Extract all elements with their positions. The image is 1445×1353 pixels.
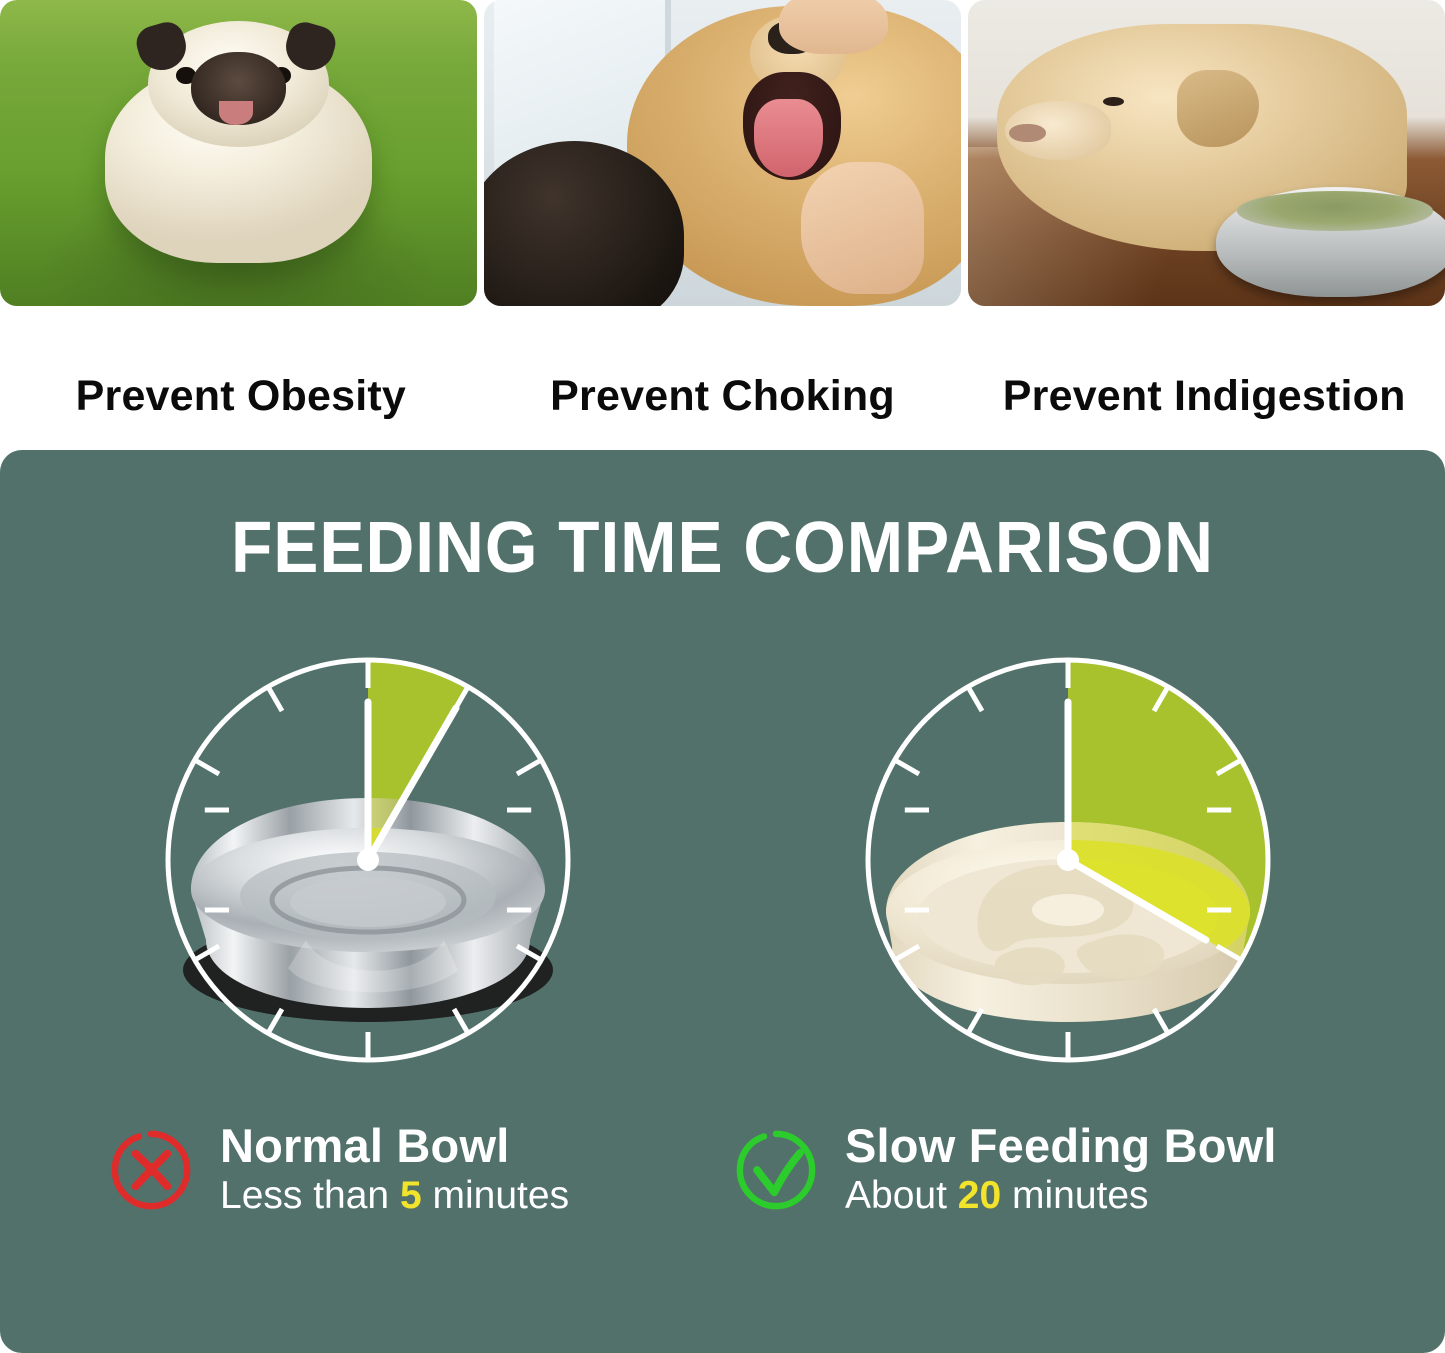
result-subtitle: Less than 5 minutes — [220, 1173, 569, 1219]
hand-upper-shape — [779, 0, 888, 54]
panel-title: FEEDING TIME COMPARISON — [43, 507, 1401, 589]
benefit-photo-prevent-obesity — [0, 0, 477, 306]
result-sub-value: 5 — [400, 1174, 422, 1217]
feeding-time-comparison-panel: FEEDING TIME COMPARISON — [0, 450, 1445, 1353]
labrador-eye-shape — [1103, 97, 1124, 106]
clock-center-dot — [357, 849, 379, 871]
benefits-photo-strip — [0, 0, 1445, 306]
result-title: Slow Feeding Bowl — [845, 1122, 1277, 1171]
result-normal-bowl-text: Normal Bowl Less than 5 minutes — [220, 1122, 569, 1219]
result-normal-bowl: Normal Bowl Less than 5 minutes — [108, 1122, 569, 1219]
slow-feeding-bowl-clock — [858, 640, 1278, 1070]
labrador-nose-shape — [1009, 124, 1046, 142]
benefit-caption-prevent-obesity: Prevent Obesity — [0, 306, 482, 436]
benefit-photo-prevent-indigestion — [968, 0, 1445, 306]
result-sub-value: 20 — [958, 1174, 1001, 1217]
clock-comparison-row — [0, 640, 1445, 1080]
result-slow-feeding-bowl-text: Slow Feeding Bowl About 20 minutes — [845, 1122, 1277, 1219]
normal-bowl-clock — [158, 640, 578, 1070]
result-subtitle: About 20 minutes — [845, 1173, 1277, 1219]
x-circle-icon — [108, 1127, 194, 1213]
comparison-results-row: Normal Bowl Less than 5 minutes Slow Fee… — [0, 1122, 1445, 1272]
labrador-ear-shape — [1177, 70, 1259, 147]
benefit-caption-prevent-indigestion: Prevent Indigestion — [963, 306, 1445, 436]
dog-tongue-shape — [754, 99, 823, 177]
clock-center-dot — [1057, 849, 1079, 871]
result-sub-prefix: About — [845, 1174, 958, 1217]
result-title: Normal Bowl — [220, 1122, 569, 1171]
result-sub-suffix: minutes — [1001, 1174, 1148, 1217]
benefit-caption-prevent-choking: Prevent Choking — [482, 306, 964, 436]
check-circle-icon — [733, 1127, 819, 1213]
hand-lower-shape — [801, 162, 924, 294]
result-sub-suffix: minutes — [422, 1174, 569, 1217]
steel-bowl-shape — [1216, 187, 1445, 297]
benefit-photo-prevent-choking — [484, 0, 961, 306]
benefits-caption-row: Prevent Obesity Prevent Choking Prevent … — [0, 306, 1445, 436]
result-slow-feeding-bowl: Slow Feeding Bowl About 20 minutes — [733, 1122, 1277, 1219]
result-sub-prefix: Less than — [220, 1174, 400, 1217]
steel-bowl-food-shape — [1237, 191, 1433, 231]
